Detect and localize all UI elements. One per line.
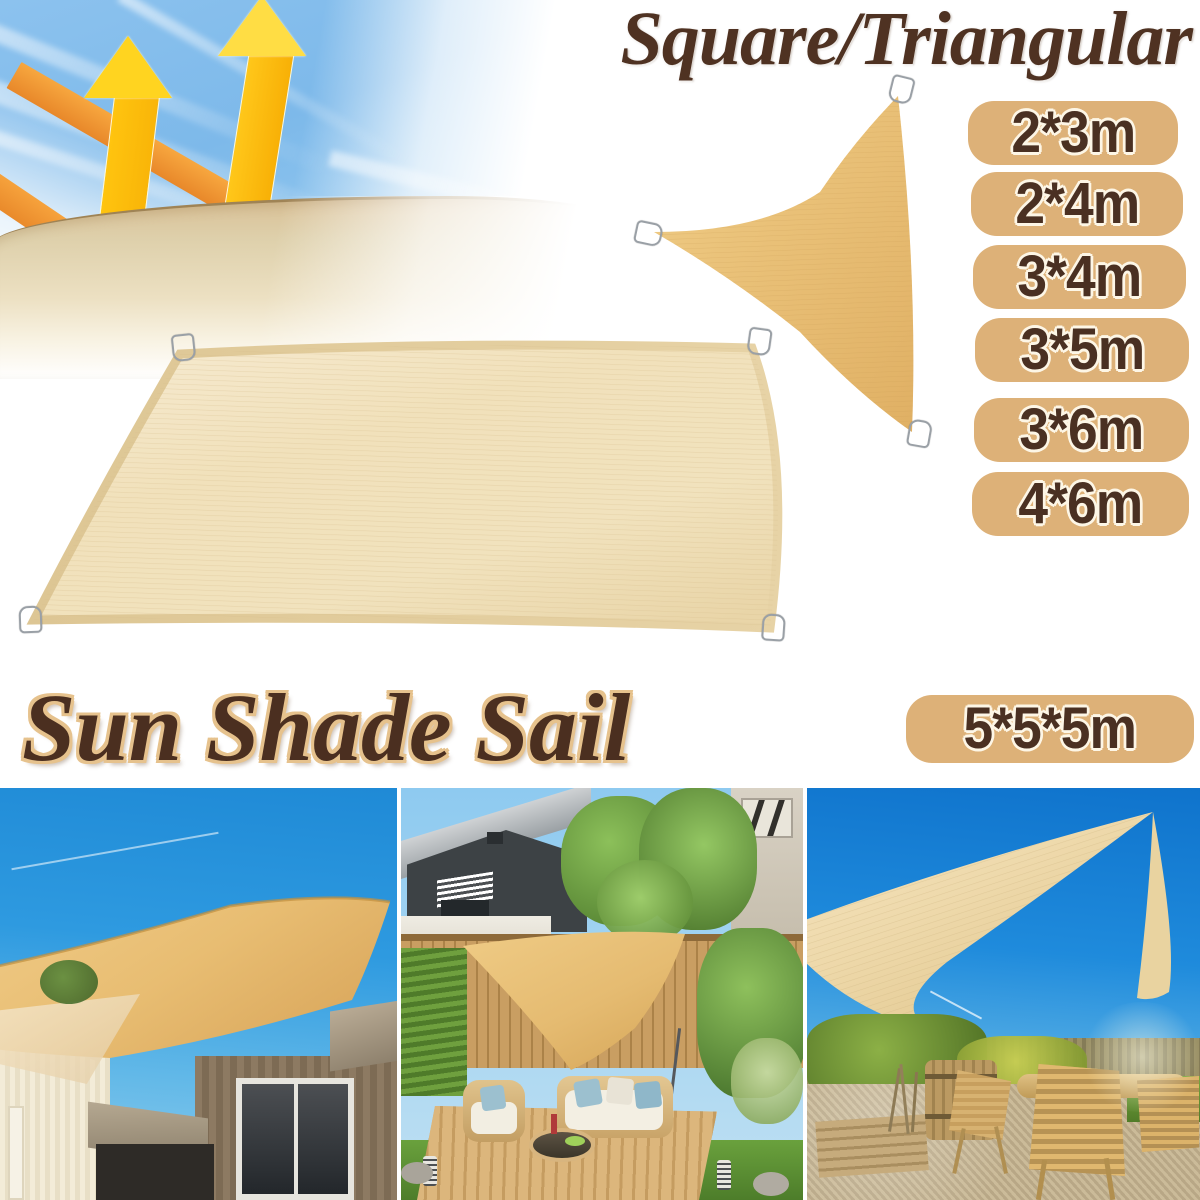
size-badge-label: 3*5m	[1020, 321, 1144, 379]
page-title-top: Square/Triangular	[432, 0, 1192, 82]
size-badge-label: 3*4m	[1018, 248, 1142, 306]
rect-dring-top-left	[171, 333, 197, 362]
rect-dring-bottom-right	[761, 613, 786, 642]
size-badge-label: 5*5*5m	[964, 700, 1136, 758]
size-badge-3x4m[interactable]: 3*4m	[973, 245, 1186, 309]
gallery-photo-deck-seating[interactable]	[401, 788, 803, 1200]
product-banner: Square/Triangular	[0, 0, 1200, 1200]
size-badge-4x6m[interactable]: 4*6m	[972, 472, 1189, 536]
size-badge-label: 2*4m	[1015, 175, 1139, 233]
hero-section: Square/Triangular	[0, 0, 1200, 788]
product-gallery	[0, 788, 1200, 1200]
size-badge-2x3m[interactable]: 2*3m	[968, 101, 1178, 165]
gallery-photo-house-patio[interactable]	[0, 788, 397, 1200]
size-badge-3x6m[interactable]: 3*6m	[974, 398, 1189, 462]
page-title-main: Sun Shade Sail	[22, 676, 942, 780]
gallery-photo-gravel-patio[interactable]	[807, 788, 1200, 1200]
size-badge-label: 3*6m	[1020, 401, 1144, 459]
size-badge-label: 4*6m	[1019, 475, 1143, 533]
size-badge-5x5x5m[interactable]: 5*5*5m	[906, 695, 1194, 763]
rect-dring-bottom-left	[19, 606, 43, 634]
rectangular-sun-shade-sail	[10, 338, 970, 638]
size-badge-2x4m[interactable]: 2*4m	[971, 172, 1183, 236]
size-badge-label: 2*3m	[1011, 104, 1135, 162]
size-badge-3x5m[interactable]: 3*5m	[975, 318, 1189, 382]
